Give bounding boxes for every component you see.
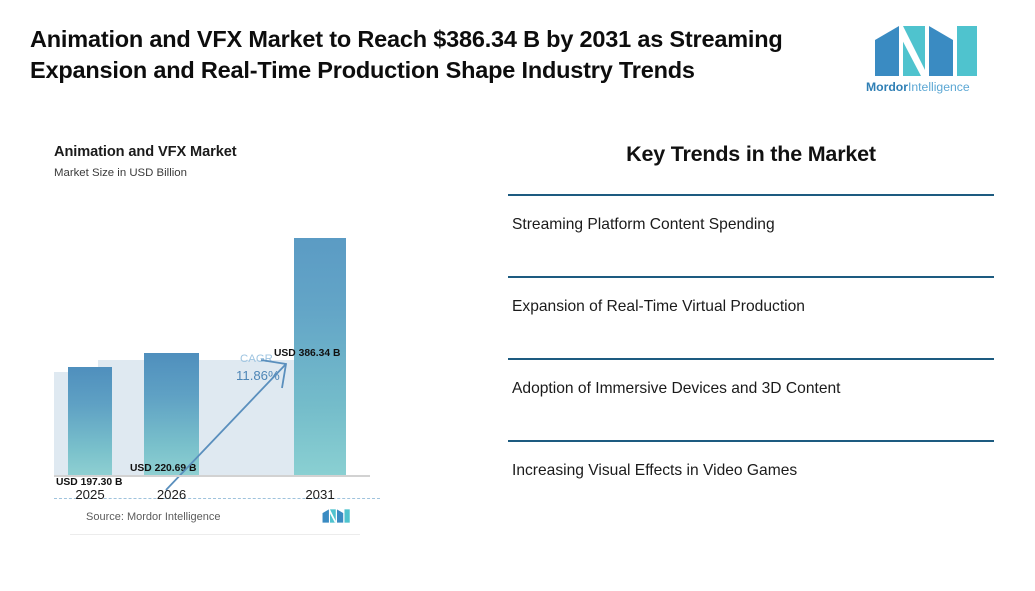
page-header: Animation and VFX Market to Reach $386.3… [0, 0, 1035, 118]
x-tick-2025: 2025 [68, 487, 112, 502]
key-trends-panel: Key Trends in the Market Streaming Platf… [508, 142, 994, 522]
key-trends-title: Key Trends in the Market [508, 142, 994, 167]
x-tick-2031: 2031 [294, 487, 346, 502]
list-item[interactable]: Streaming Platform Content Spending [508, 194, 994, 276]
trend-label-3: Adoption of Immersive Devices and 3D Con… [512, 380, 841, 398]
list-item[interactable]: Increasing Visual Effects in Video Games [508, 440, 994, 522]
trend-label-4: Increasing Visual Effects in Video Games [512, 462, 797, 480]
chart-source: Source: Mordor Intelligence [86, 511, 221, 523]
chart-plot-area: USD 197.30 B USD 220.69 B USD 386.34 B C… [32, 132, 362, 538]
x-tick-2026: 2026 [144, 487, 199, 502]
trend-label-1: Streaming Platform Content Spending [512, 216, 775, 234]
list-item[interactable]: Adoption of Immersive Devices and 3D Con… [508, 358, 994, 440]
mordor-m-logo-icon-small [322, 506, 350, 526]
mordor-m-logo-icon [873, 26, 978, 76]
brand-logo: MordorIntelligence [866, 26, 978, 98]
card-bottom-rule [70, 534, 360, 535]
list-item[interactable]: Expansion of Real-Time Virtual Productio… [508, 276, 994, 358]
infographic-page: Animation and VFX Market to Reach $386.3… [0, 0, 1035, 591]
trend-label-2: Expansion of Real-Time Virtual Productio… [512, 298, 805, 316]
bar-2025 [68, 367, 112, 476]
brand-wordmark: MordorIntelligence [866, 80, 978, 94]
key-trends-list: Streaming Platform Content Spending Expa… [508, 194, 994, 522]
page-title: Animation and VFX Market to Reach $386.3… [30, 24, 850, 86]
growth-arrow-icon [162, 354, 292, 494]
x-axis-line [54, 475, 370, 477]
market-size-chart-card: Animation and VFX Market Market Size in … [32, 132, 362, 538]
brand-name-light: Intelligence [908, 80, 970, 94]
brand-name-bold: Mordor [866, 80, 908, 94]
